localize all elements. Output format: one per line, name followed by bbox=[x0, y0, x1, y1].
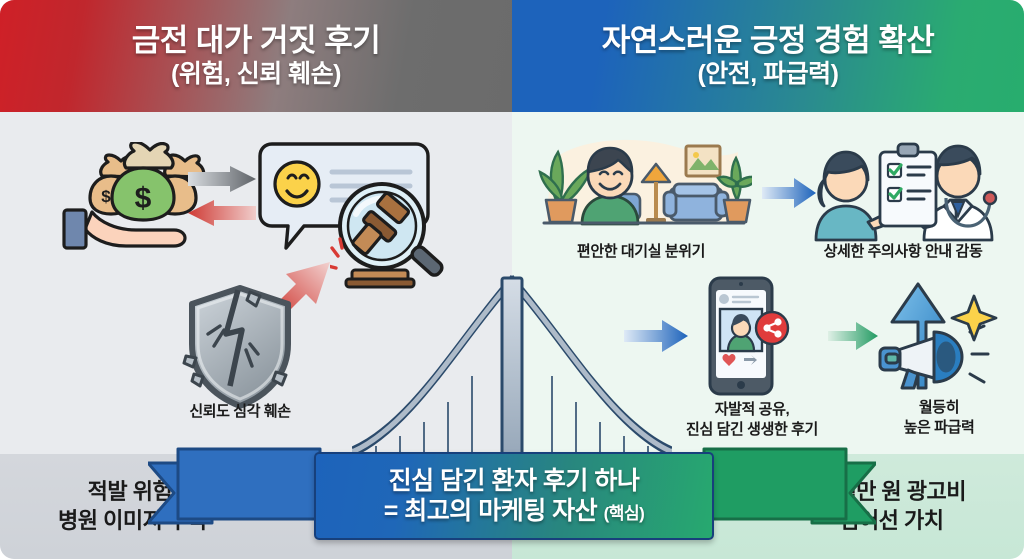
megaphone-growth-icon bbox=[874, 278, 1002, 396]
left-footer-line1: 적발 위험, bbox=[58, 478, 207, 506]
center-key-message-banner: 진심 담긴 환자 후기 하나 = 최고의 마케팅 자산 (핵심) bbox=[314, 452, 714, 540]
right-footer-text: 수백만 원 광고비 넘어선 가치 bbox=[817, 478, 966, 534]
banner-line2: = 최고의 마케팅 자산 (핵심) bbox=[384, 496, 645, 526]
right-header-subtitle: (안전, 파급력) bbox=[697, 60, 838, 88]
left-panel-caption: 신뢰도 심각 훼손 bbox=[150, 402, 330, 422]
right-header-title: 자연스러운 긍정 경험 확산 bbox=[602, 24, 935, 59]
banner-line2-suffix: (핵심) bbox=[604, 504, 645, 523]
right-footer-line1: 수백만 원 광고비 bbox=[817, 478, 966, 506]
right-step-2-caption: 상세한 주의사항 안내 감동 bbox=[790, 242, 1016, 262]
right-step-3-caption: 자발적 공유, 진심 담긴 생생한 후기 bbox=[672, 400, 832, 439]
right-step-3-caption-line2: 진심 담긴 생생한 후기 bbox=[672, 420, 832, 440]
exchange-arrows-icon bbox=[186, 166, 258, 232]
right-step-1-caption-line1: 편안한 대기실 분위기 bbox=[577, 243, 705, 260]
left-header-banner: 금전 대가 거짓 후기 (위험, 신뢰 훼손) bbox=[0, 0, 512, 112]
left-footer-text: 적발 위험, 병원 이미지 추락 bbox=[58, 478, 207, 534]
right-step-4-caption-line1: 월등히 bbox=[866, 398, 1012, 418]
doctor-clipboard-consult-icon bbox=[806, 136, 1002, 244]
green-arrow-right-3-icon bbox=[828, 322, 878, 350]
right-step-1-caption: 편안한 대기실 분위기 bbox=[528, 242, 754, 262]
right-step-2-caption-line1: 상세한 주의사항 안내 감동 bbox=[824, 243, 983, 260]
infographic-canvas: 금전 대가 거짓 후기 (위험, 신뢰 훼손) 자연스러운 긍정 경험 확산 (… bbox=[0, 0, 1024, 559]
svg-text:$: $ bbox=[101, 187, 111, 206]
right-step-4-caption: 월등히 높은 파급력 bbox=[866, 398, 1012, 437]
right-header-banner: 자연스러운 긍정 경험 확산 (안전, 파급력) bbox=[512, 0, 1024, 112]
banner-line2-main: = 최고의 마케팅 자산 bbox=[384, 497, 597, 525]
left-footer-line2: 병원 이미지 추락 bbox=[58, 507, 207, 535]
svg-text:$: $ bbox=[135, 182, 152, 215]
right-step-3-caption-line1: 자발적 공유, bbox=[672, 400, 832, 420]
banner-line1: 진심 담긴 환자 후기 하나 bbox=[389, 466, 640, 496]
left-header-subtitle: (위험, 신뢰 훼손) bbox=[171, 60, 341, 88]
suspension-bridge-graphic bbox=[352, 270, 672, 470]
smartphone-social-share-icon bbox=[700, 276, 792, 398]
broken-shield-icon bbox=[180, 282, 300, 412]
right-footer-line2: 넘어선 가치 bbox=[817, 507, 966, 535]
right-step-4-caption-line2: 높은 파급력 bbox=[866, 418, 1012, 438]
left-header-title: 금전 대가 거짓 후기 bbox=[132, 24, 381, 59]
waiting-room-scene-icon bbox=[530, 138, 752, 242]
